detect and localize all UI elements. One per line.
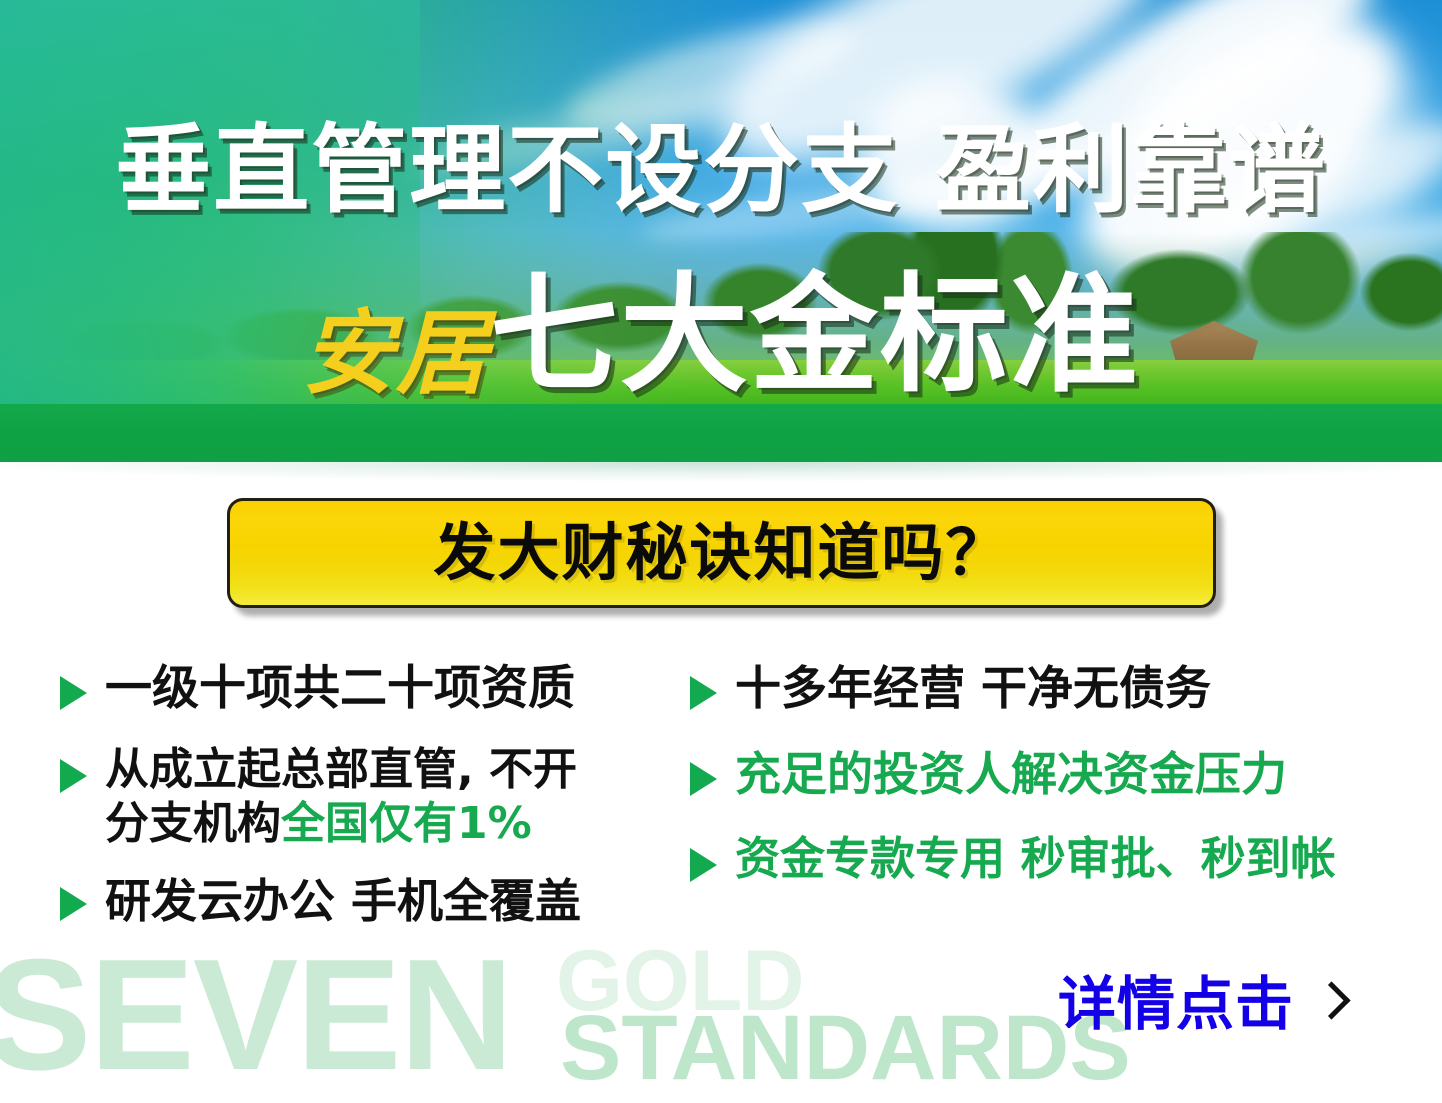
list-item: 一级十项共二十项资质 — [60, 660, 680, 717]
green-strip — [0, 404, 1442, 462]
triangle-right-icon — [60, 759, 87, 793]
bullet-text: 研发云办公 手机全覆盖 — [105, 873, 581, 929]
triangle-right-icon — [60, 887, 87, 921]
bullet-highlight: 全国仅有1% — [281, 798, 532, 849]
bullet-text: 从成立起总部直管, 不开 分支机构全国仅有1% — [105, 743, 577, 850]
bullet-text: 资金专款专用 秒审批、秒到帐 — [735, 832, 1336, 887]
watermark-standards: STANDARDS — [560, 1002, 1131, 1094]
details-cta-button[interactable]: 详情点击 — [1058, 975, 1342, 1033]
bullet-text: 十多年经营 干净无债务 — [735, 660, 1211, 716]
bullet-text: 一级十项共二十项资质 — [105, 660, 575, 717]
bullet-text: 充足的投资人解决资金压力 — [735, 746, 1287, 802]
hero-sub-main: 七大金标准 — [490, 261, 1140, 410]
list-item: 研发云办公 手机全覆盖 — [60, 873, 680, 929]
hero-headline: 垂直管理不设分支 盈利靠谱 — [0, 122, 1442, 218]
hero-shadow — [0, 462, 1442, 488]
bullet-column-right: 十多年经营 干净无债务 充足的投资人解决资金压力 资金专款专用 秒审批、秒到帐 — [690, 660, 1430, 913]
details-cta-label: 详情点击 — [1058, 975, 1294, 1033]
hero-banner: 垂直管理不设分支 盈利靠谱 安居七大金标准 — [0, 0, 1442, 462]
triangle-right-icon — [690, 762, 717, 796]
triangle-right-icon — [690, 848, 717, 882]
gold-banner-text: 发大财秘诀知道吗？ — [433, 522, 1009, 584]
list-item: 充足的投资人解决资金压力 — [690, 746, 1430, 802]
triangle-right-icon — [60, 676, 87, 710]
chevron-right-icon — [1316, 982, 1342, 1026]
hero-sub-prefix: 安居 — [302, 300, 490, 407]
feature-bullets: 一级十项共二十项资质 从成立起总部直管, 不开 分支机构全国仅有1% 研发云办公… — [0, 660, 1442, 1000]
gold-question-banner[interactable]: 发大财秘诀知道吗？ — [227, 498, 1216, 608]
list-item: 资金专款专用 秒审批、秒到帐 — [690, 832, 1430, 887]
triangle-right-icon — [690, 676, 717, 710]
list-item: 从成立起总部直管, 不开 分支机构全国仅有1% — [60, 743, 680, 850]
hero-subheadline: 安居七大金标准 — [0, 272, 1442, 400]
list-item: 十多年经营 干净无债务 — [690, 660, 1430, 716]
bullet-column-left: 一级十项共二十项资质 从成立起总部直管, 不开 分支机构全国仅有1% 研发云办公… — [60, 660, 680, 955]
